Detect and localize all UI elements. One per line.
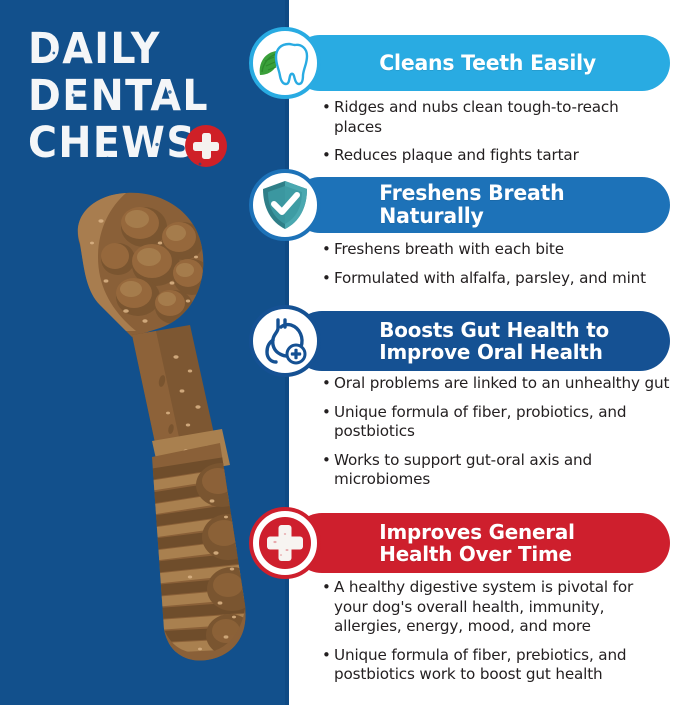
bullet-marker: •: [322, 98, 334, 137]
bullet-marker: •: [322, 578, 334, 637]
title-line-3-row: CHEWS: [28, 120, 268, 167]
chew-ridged-body: [140, 443, 255, 661]
feature-heading: Freshens Breath Naturally: [292, 182, 659, 228]
stomach-plus-icon: [249, 305, 321, 377]
bullet-marker: •: [322, 646, 334, 685]
bullet-item: • Formulated with alfalfa, parsley, and …: [322, 269, 670, 289]
bullet-marker: •: [322, 403, 334, 442]
bullet-text: A healthy digestive system is pivotal fo…: [334, 578, 670, 637]
bullet-text: Ridges and nubs clean tough-to-reach pla…: [334, 98, 670, 137]
bullet-marker: •: [322, 240, 334, 260]
bullet-item: • Freshens breath with each bite: [322, 240, 670, 260]
bullet-text: Works to support gut-oral axis and micro…: [334, 451, 670, 490]
bullet-item: • Works to support gut-oral axis and mic…: [322, 451, 670, 490]
bullet-marker: •: [322, 146, 334, 166]
title-line-3: CHEWS: [28, 120, 196, 167]
page-title: DAILY DENTAL CHEWS: [28, 26, 268, 167]
bullet-item: • Oral problems are linked to an unhealt…: [322, 374, 670, 394]
feature-heading: Boosts Gut Health to Improve Oral Health: [292, 319, 609, 363]
infographic-canvas: DAILY DENTAL CHEWS: [0, 0, 679, 705]
feature-bullets-freshens-breath: • Freshens breath with each bite • Formu…: [322, 240, 670, 297]
tooth-leaf-icon: [249, 27, 321, 99]
feature-heading: Improves General Health Over Time: [292, 521, 575, 565]
bullet-item: • A healthy digestive system is pivotal …: [322, 578, 670, 637]
dental-chew-illustration: [40, 185, 255, 685]
bullet-marker: •: [322, 269, 334, 289]
bullet-text: Unique formula of fiber, probiotics, and…: [334, 403, 670, 442]
bullet-text: Freshens breath with each bite: [334, 240, 670, 260]
feature-bullets-cleans-teeth: • Ridges and nubs clean tough-to-reach p…: [322, 98, 670, 175]
title-line-1: DAILY: [28, 26, 249, 73]
feature-bullets-improves-general-health: • A healthy digestive system is pivotal …: [322, 578, 670, 694]
shield-check-icon: [249, 169, 321, 241]
bullet-text: Reduces plaque and fights tartar: [334, 146, 670, 166]
bullet-marker: •: [322, 374, 334, 394]
title-line-2: DENTAL: [28, 73, 249, 120]
bullet-text: Unique formula of fiber, prebiotics, and…: [334, 646, 670, 685]
feature-heading: Cleans Teeth Easily: [292, 52, 596, 75]
bullet-item: • Ridges and nubs clean tough-to-reach p…: [322, 98, 670, 137]
bullet-marker: •: [322, 451, 334, 490]
feature-pill-freshens-breath: Freshens Breath Naturally: [292, 177, 670, 233]
bullet-item: • Unique formula of fiber, prebiotics, a…: [322, 646, 670, 685]
medical-cross-circle-icon: [249, 507, 321, 579]
bullet-item: • Reduces plaque and fights tartar: [322, 146, 670, 166]
chew-head: [78, 193, 211, 337]
bullet-text: Formulated with alfalfa, parsley, and mi…: [334, 269, 670, 289]
tooth-shape: [276, 44, 307, 84]
cross-horizontal-bar: [193, 142, 219, 151]
medical-cross-icon: [185, 125, 227, 167]
bullet-text: Oral problems are linked to an unhealthy…: [334, 374, 670, 394]
feature-bullets-boosts-gut-health: • Oral problems are linked to an unhealt…: [322, 374, 670, 499]
feature-pill-cleans-teeth: Cleans Teeth Easily: [292, 35, 670, 91]
feature-pill-boosts-gut-health: Boosts Gut Health to Improve Oral Health: [292, 311, 670, 371]
feature-pill-improves-general-health: Improves General Health Over Time: [292, 513, 670, 573]
bullet-item: • Unique formula of fiber, probiotics, a…: [322, 403, 670, 442]
